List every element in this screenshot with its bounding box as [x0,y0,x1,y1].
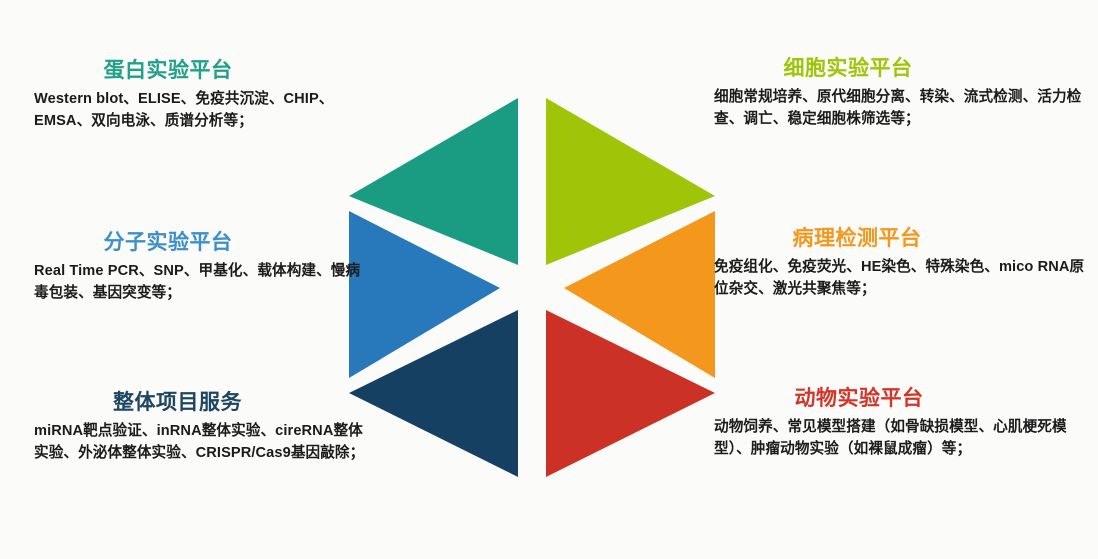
panel-overall-title: 整体项目服务 [34,390,369,416]
panel-overall: 整体项目服务 miRNA靶点验证、inRNA整体实验、cireRNA整体实验、外… [34,390,369,464]
panel-cell: 细胞实验平台 细胞常规培养、原代细胞分离、转染、流式检测、活力检查、调亡、稳定细… [714,56,1086,130]
panel-overall-body: miRNA靶点验证、inRNA整体实验、cireRNA整体实验、外泌体整体实验、… [34,421,369,464]
panel-pathology-title: 病理检测平台 [714,226,1086,252]
panel-molecular-body: Real Time PCR、SNP、甲基化、载体构建、慢病毒包装、基因突变等； [34,261,364,304]
panel-cell-body: 细胞常规培养、原代细胞分离、转染、流式检测、活力检查、调亡、稳定细胞株筛选等； [714,87,1086,130]
panel-animal-title: 动物实验平台 [714,386,1090,412]
diagram-canvas: 蛋白实验平台 Western blot、ELISE、免疫共沉淀、CHIP、EMS… [0,0,1098,559]
panel-protein: 蛋白实验平台 Western blot、ELISE、免疫共沉淀、CHIP、EMS… [34,58,384,132]
panel-protein-title: 蛋白实验平台 [34,58,384,84]
panel-pathology-body: 免疫组化、免疫荧光、HE染色、特殊染色、mico RNA原位杂交、激光共聚焦等； [714,257,1086,300]
hexagon-wheel [332,75,732,500]
panel-animal: 动物实验平台 动物饲养、常见模型搭建（如骨缺损模型、心肌梗死模型）、肿瘤动物实验… [714,386,1090,460]
panel-molecular-title: 分子实验平台 [34,230,364,256]
panel-pathology: 病理检测平台 免疫组化、免疫荧光、HE染色、特殊染色、mico RNA原位杂交、… [714,226,1086,300]
panel-protein-body: Western blot、ELISE、免疫共沉淀、CHIP、EMSA、双向电泳、… [34,89,384,132]
panel-cell-title: 细胞实验平台 [714,56,1086,82]
panel-molecular: 分子实验平台 Real Time PCR、SNP、甲基化、载体构建、慢病毒包装、… [34,230,364,304]
panel-animal-body: 动物饲养、常见模型搭建（如骨缺损模型、心肌梗死模型）、肿瘤动物实验（如裸鼠成瘤）… [714,417,1090,460]
